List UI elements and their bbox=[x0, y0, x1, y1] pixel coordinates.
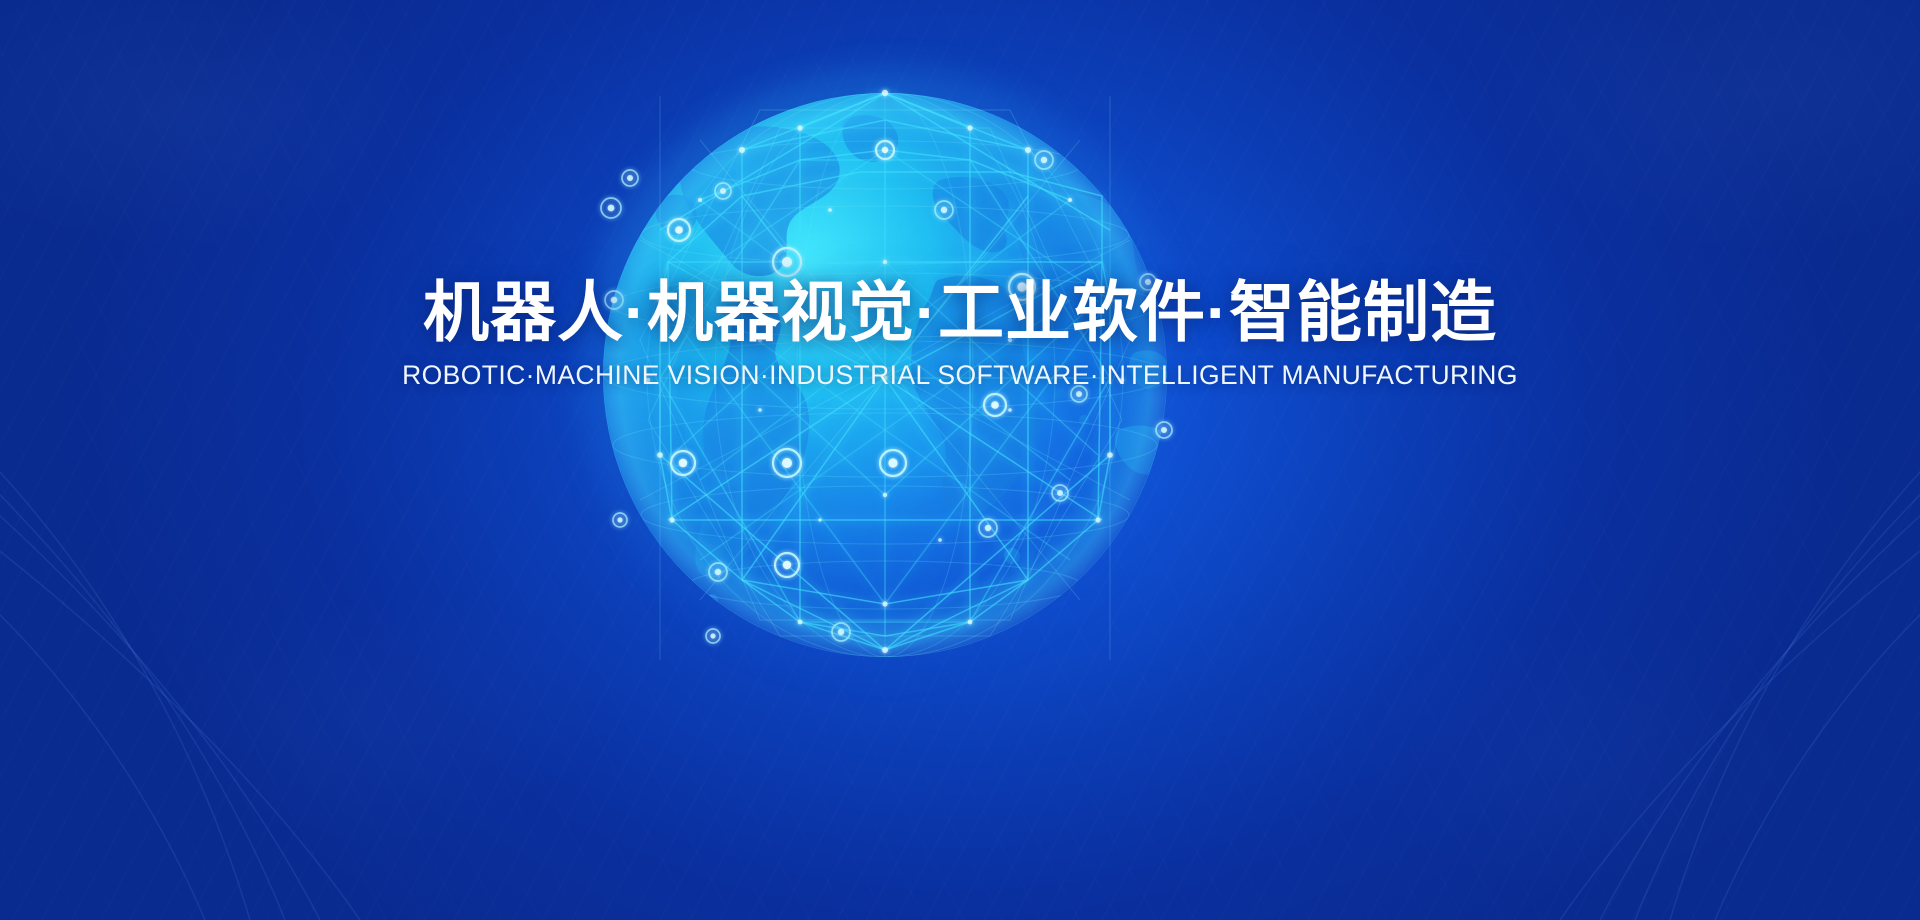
globe-glow bbox=[575, 65, 1195, 685]
background-arcs bbox=[0, 0, 1920, 920]
background-texture bbox=[0, 0, 1920, 920]
hero-banner: 机器人·机器视觉·工业软件·智能制造 ROBOTIC·MACHINE VISIO… bbox=[0, 0, 1920, 920]
banner-headline: 机器人·机器视觉·工业软件·智能制造 bbox=[0, 278, 1920, 348]
text-block: 机器人·机器视觉·工业软件·智能制造 ROBOTIC·MACHINE VISIO… bbox=[0, 278, 1920, 391]
banner-text-overlay: 机器人·机器视觉·工业软件·智能制造 ROBOTIC·MACHINE VISIO… bbox=[0, 0, 1920, 920]
globe-wireframe-cage bbox=[660, 93, 1110, 650]
globe-node-markers bbox=[601, 90, 1172, 653]
background-blotches bbox=[0, 0, 1920, 920]
banner-subtitle: ROBOTIC·MACHINE VISION·INDUSTRIAL SOFTWA… bbox=[0, 360, 1920, 391]
network-globe bbox=[0, 0, 1920, 920]
